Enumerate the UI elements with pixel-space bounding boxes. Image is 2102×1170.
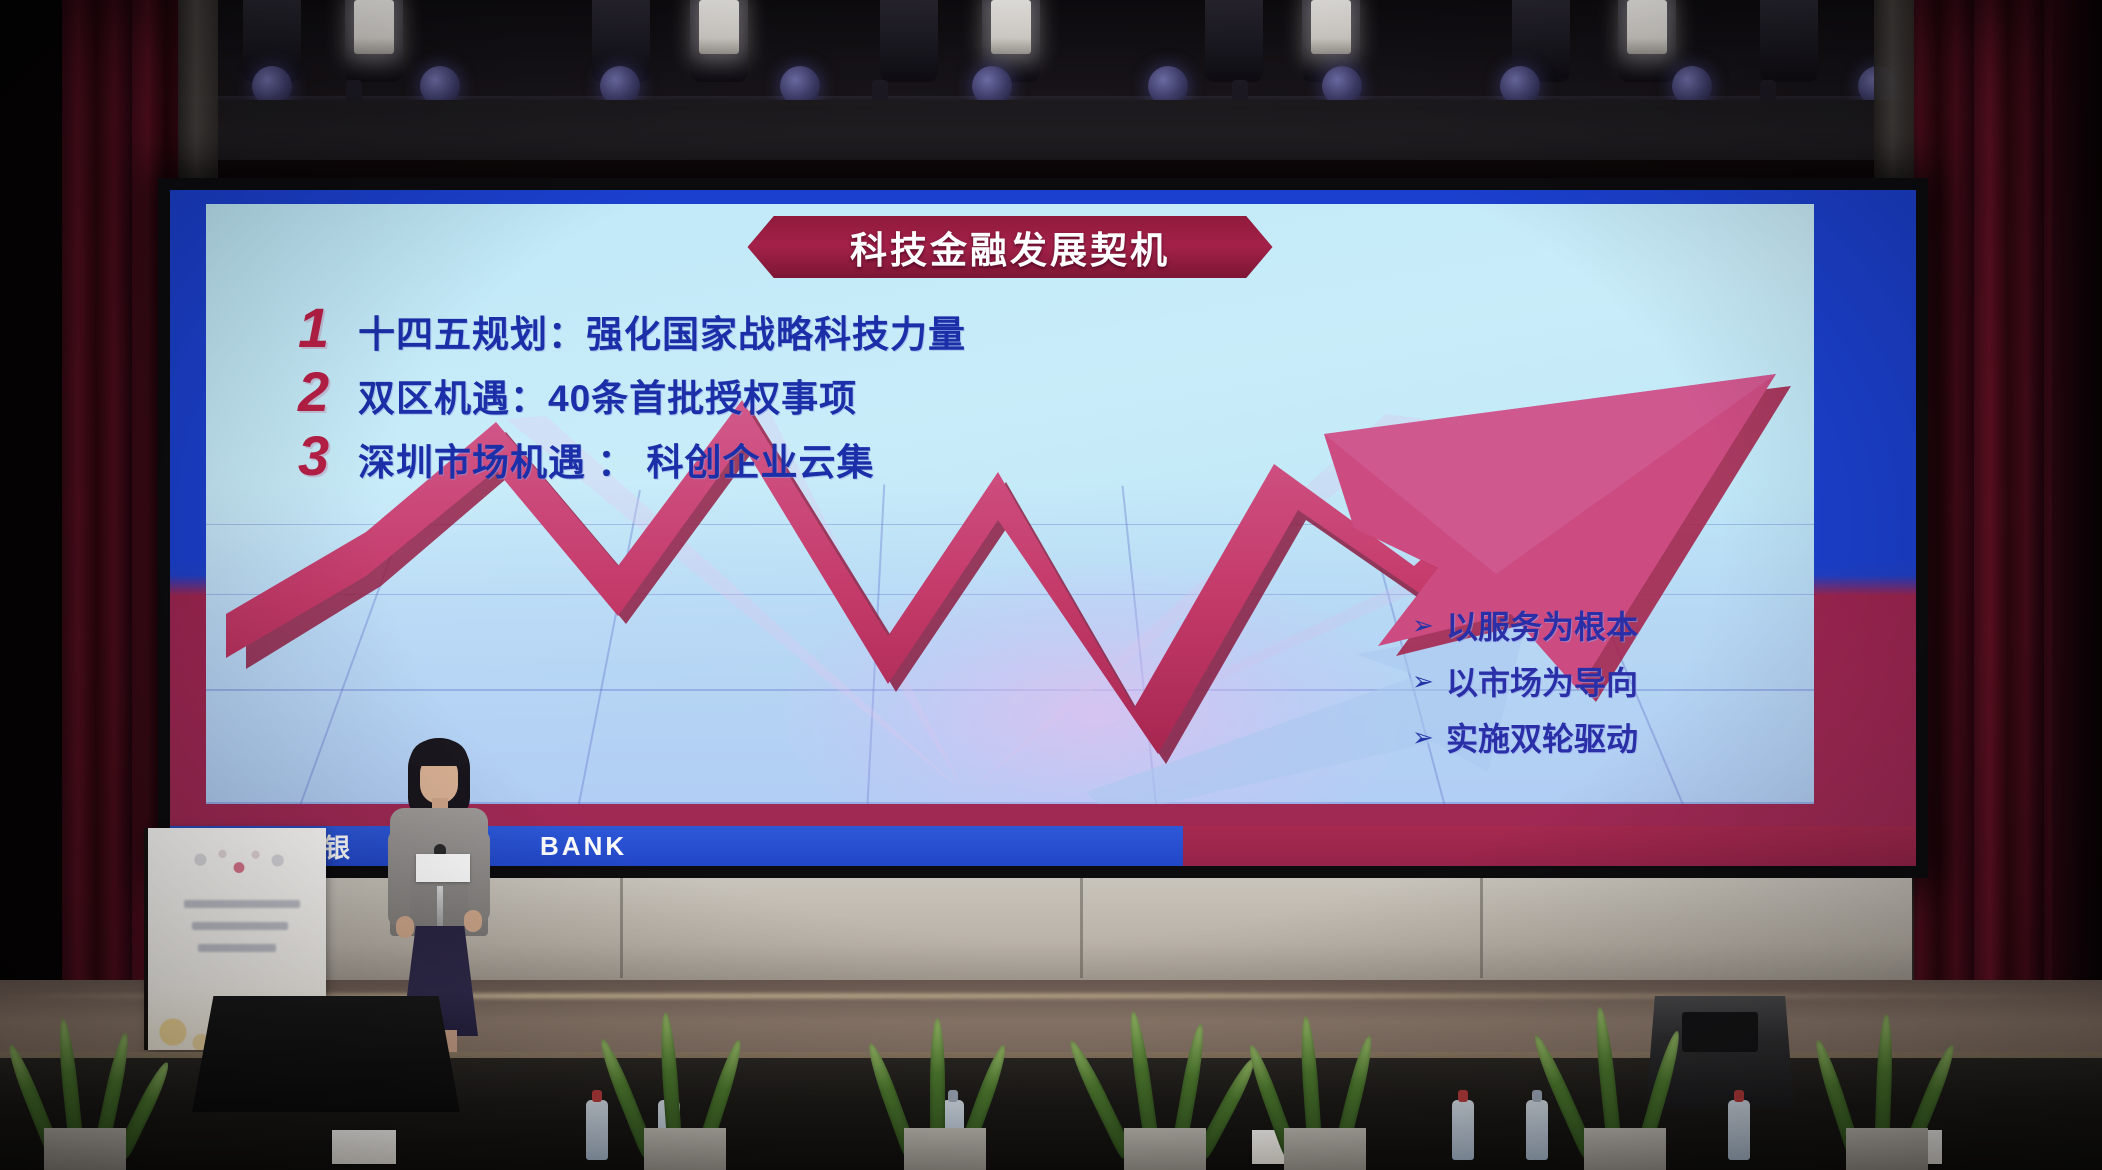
plant-pot xyxy=(644,1128,726,1170)
plant-pot xyxy=(904,1128,986,1170)
water-bottle xyxy=(1728,1100,1750,1160)
stage-light-fixture xyxy=(345,0,403,82)
bullet-text: 以市场为导向 xyxy=(1446,658,1638,704)
slide-point-row: 2 双区机遇：40条首批授权事项 xyxy=(298,364,1298,428)
slide-bullet-row: ➢ 实施双轮驱动 xyxy=(1412,714,1742,760)
potted-plant xyxy=(1822,1020,1952,1170)
footer-red-band xyxy=(1183,826,1916,866)
slide-point-list: 1 十四五规划：强化国家战略科技力量 2 双区机遇：40条首批授权事项 3 深圳… xyxy=(298,300,1298,492)
water-bottle xyxy=(1452,1100,1474,1160)
slide-title-text: 科技金融发展契机 xyxy=(850,220,1170,274)
point-number: 2 xyxy=(298,364,358,420)
placard-text-line xyxy=(192,922,288,930)
slide-title-banner: 科技金融发展契机 xyxy=(748,216,1273,278)
placard-text-line xyxy=(184,900,300,908)
water-bottle xyxy=(1526,1100,1548,1160)
wall-seam xyxy=(620,878,623,978)
potted-plant xyxy=(880,1020,1010,1170)
presenter-fringe xyxy=(410,740,468,766)
presenter-right-arm xyxy=(468,830,490,922)
potted-plant xyxy=(20,1020,150,1170)
potted-plant xyxy=(1560,1020,1690,1170)
point-text: 十四五规划：强化国家战略科技力量 xyxy=(358,304,966,358)
wall-seam xyxy=(1080,878,1083,978)
arrow-bullet-icon: ➢ xyxy=(1412,612,1446,638)
name-card xyxy=(332,1130,396,1164)
floral-decoration xyxy=(170,846,308,882)
stage-photograph: 科技金融发展契机 1 十四五规划：强化国家战略科技力量 2 双区机遇：40条首批… xyxy=(0,0,2102,1170)
presenter-left-hand xyxy=(396,916,414,938)
microphone-handle xyxy=(437,886,443,928)
point-number: 1 xyxy=(298,300,358,356)
plant-pot xyxy=(1584,1128,1666,1170)
bullet-text: 以服务为根本 xyxy=(1446,602,1638,648)
stage-light-fixture xyxy=(1618,0,1676,82)
point-text: 双区机遇：40条首批授权事项 xyxy=(358,368,857,422)
arrow-bullet-icon: ➢ xyxy=(1412,668,1446,694)
bullet-text: 实施双轮驱动 xyxy=(1446,714,1638,760)
plant-pot xyxy=(1846,1128,1928,1170)
arrow-bullet-icon: ➢ xyxy=(1412,724,1446,750)
potted-plant xyxy=(1260,1020,1390,1170)
slide-bullet-row: ➢ 以服务为根本 xyxy=(1412,602,1742,648)
slide-point-row: 1 十四五规划：强化国家战略科技力量 xyxy=(298,300,1298,364)
water-bottle xyxy=(586,1100,608,1160)
slide-point-row: 3 深圳市场机遇 ： 科创企业云集 xyxy=(298,428,1298,492)
plant-pot xyxy=(1284,1128,1366,1170)
stage-light-fixture xyxy=(1760,0,1818,82)
placard-text-line xyxy=(198,944,276,952)
upper-wall-panel xyxy=(180,100,1912,160)
podium-monitor xyxy=(192,996,460,1112)
slide-bullet-list: ➢ 以服务为根本 ➢ 以市场为导向 ➢ 实施双轮驱动 xyxy=(1412,602,1742,770)
potted-plant xyxy=(620,1020,750,1170)
plant-pot xyxy=(1124,1128,1206,1170)
presenter-right-hand xyxy=(464,910,482,932)
wall-seam xyxy=(1480,878,1483,978)
plant-pot xyxy=(44,1128,126,1170)
footer-brand-english: BANK xyxy=(540,831,627,862)
slide-bullet-row: ➢ 以市场为导向 xyxy=(1412,658,1742,704)
stage-light-fixture xyxy=(690,0,748,82)
point-number: 3 xyxy=(298,428,358,484)
potted-plant xyxy=(1100,1020,1230,1170)
point-text: 深圳市场机遇 ： 科创企业云集 xyxy=(358,432,875,486)
microphone-flag xyxy=(416,854,470,882)
slide-canvas: 科技金融发展契机 1 十四五规划：强化国家战略科技力量 2 双区机遇：40条首批… xyxy=(206,204,1814,804)
stage-light-fixture xyxy=(880,0,938,82)
stage-light-fixture xyxy=(1205,0,1263,82)
presenter-left-arm xyxy=(388,830,410,926)
